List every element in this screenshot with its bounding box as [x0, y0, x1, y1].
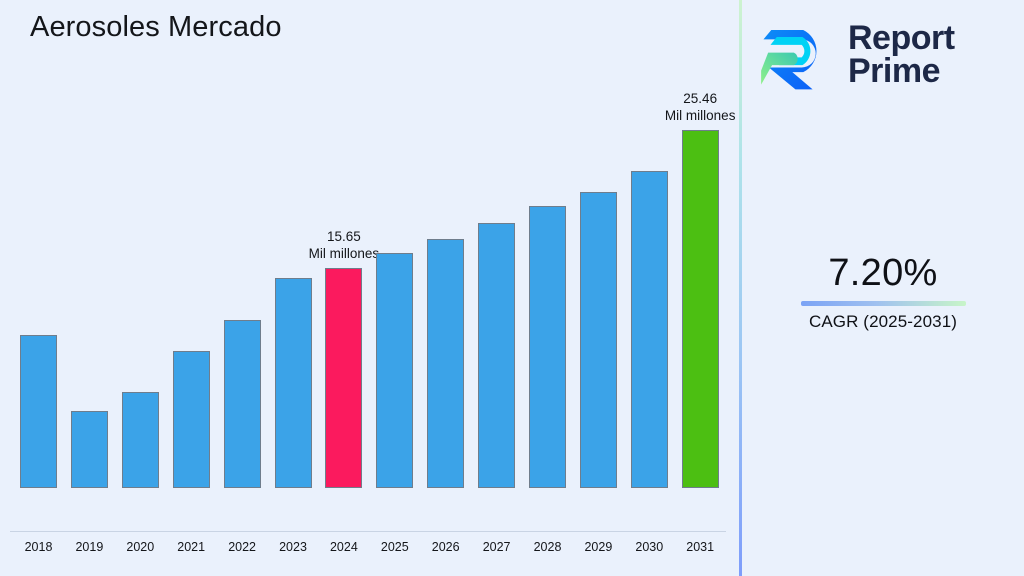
cagr-value: 7.20%: [742, 253, 1024, 294]
x-tick-2020: 2020: [116, 540, 164, 554]
bar-data-label-2024: 15.65Mil millones: [309, 228, 380, 262]
brand-line-1: Report: [848, 22, 955, 55]
x-tick-2018: 2018: [15, 540, 63, 554]
bar-2028[interactable]: [529, 206, 566, 488]
cagr-caption: CAGR (2025-2031): [742, 312, 1024, 332]
x-tick-2024: 2024: [320, 540, 368, 554]
bar-data-label-unit-2024: Mil millones: [309, 245, 380, 262]
report-prime-logo-icon: [758, 16, 836, 94]
x-tick-2022: 2022: [218, 540, 266, 554]
side-panel: Report Prime 7.20% CAGR (2025-2031): [742, 0, 1024, 576]
x-tick-2027: 2027: [473, 540, 521, 554]
bar-2031[interactable]: [682, 130, 719, 488]
bar-data-label-2031: 25.46Mil millones: [665, 90, 736, 124]
x-tick-2029: 2029: [574, 540, 622, 554]
x-tick-2019: 2019: [65, 540, 113, 554]
x-tick-2023: 2023: [269, 540, 317, 554]
bar-2027[interactable]: [478, 223, 515, 488]
bar-2019[interactable]: [71, 411, 108, 488]
bar-2030[interactable]: [631, 171, 668, 488]
x-tick-2025: 2025: [371, 540, 419, 554]
bar-data-label-value-2024: 15.65: [309, 228, 380, 245]
x-tick-2030: 2030: [625, 540, 673, 554]
bar-data-label-unit-2031: Mil millones: [665, 107, 736, 124]
chart-panel: Aerosoles Mercado 15.65Mil millones25.46…: [0, 0, 740, 576]
bar-2025[interactable]: [376, 253, 413, 488]
brand-line-2: Prime: [848, 55, 955, 88]
bar-data-label-value-2031: 25.46: [665, 90, 736, 107]
bar-2022[interactable]: [224, 320, 261, 488]
x-tick-2031: 2031: [676, 540, 724, 554]
x-tick-2028: 2028: [524, 540, 572, 554]
x-tick-2026: 2026: [422, 540, 470, 554]
screenshot-root: Aerosoles Mercado 15.65Mil millones25.46…: [0, 0, 1024, 576]
brand-wordmark: Report Prime: [848, 22, 955, 89]
bar-2026[interactable]: [427, 239, 464, 488]
bar-2029[interactable]: [580, 192, 617, 488]
bar-2020[interactable]: [122, 392, 159, 488]
cagr-divider-rule: [801, 301, 966, 306]
cagr-block: 7.20% CAGR (2025-2031): [742, 253, 1024, 332]
x-tick-2021: 2021: [167, 540, 215, 554]
bar-2024[interactable]: [325, 268, 362, 488]
x-axis-line: [10, 531, 726, 532]
bar-2018[interactable]: [20, 335, 57, 488]
report-prime-logo: Report Prime: [758, 12, 1012, 98]
bar-2023[interactable]: [275, 278, 312, 488]
bar-2021[interactable]: [173, 351, 210, 488]
bar-chart-plot: 15.65Mil millones25.46Mil millones: [0, 0, 740, 532]
